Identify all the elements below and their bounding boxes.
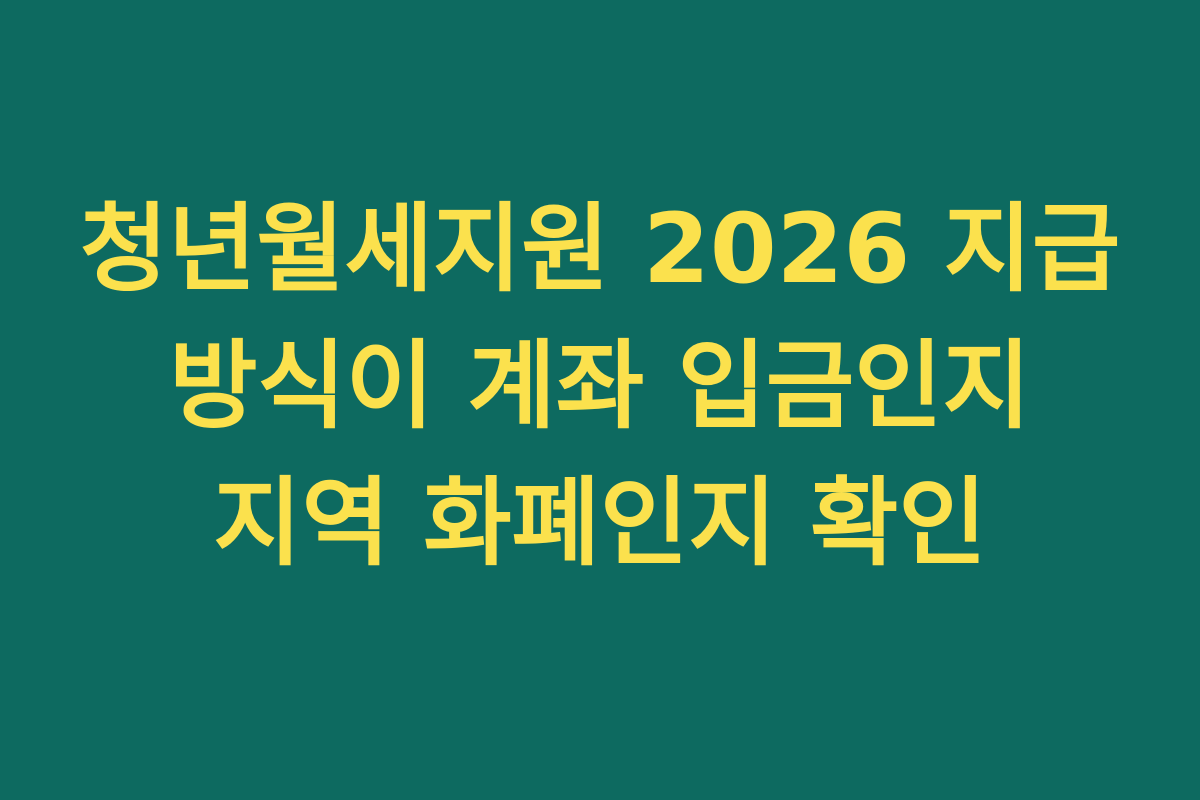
headline-block: 청년월세지원 2026 지급 방식이 계좌 입금인지 지역 화폐인지 확인: [0, 181, 1200, 592]
headline-line-1: 청년월세지원 2026 지급: [40, 181, 1160, 318]
headline-line-2: 방식이 계좌 입금인지: [40, 318, 1160, 455]
headline-line-3: 지역 화폐인지 확인: [40, 455, 1160, 592]
thumbnail-canvas: 청년월세지원 2026 지급 방식이 계좌 입금인지 지역 화폐인지 확인: [0, 0, 1200, 800]
